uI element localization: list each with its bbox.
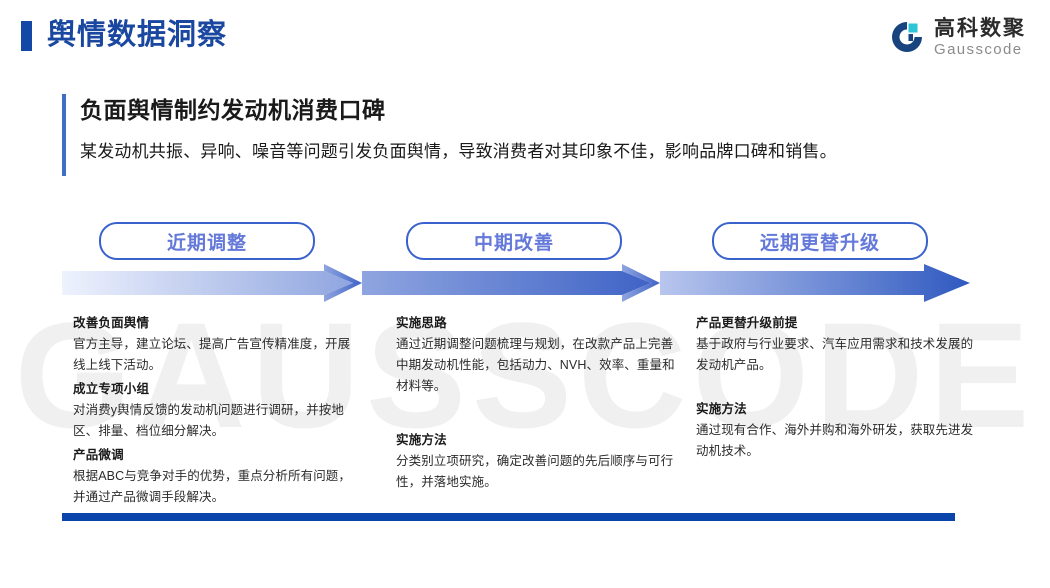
detail-block: 实施思路 通过近期调整问题梳理与规划，在改款产品上完善中期发动机性能，包括动力、… [396, 312, 678, 397]
logo-name-cn: 高科数聚 [934, 18, 1026, 39]
footer-bar [62, 513, 955, 521]
logo-text: 高科数聚 Gausscode [934, 18, 1026, 57]
detail-block-title: 实施方法 [696, 398, 978, 420]
headline-title: 负面舆情制约发动机消费口碑 [80, 92, 962, 128]
detail-block-body: 分类别立项研究，确定改善问题的先后顺序与可行性，并落地实施。 [396, 451, 678, 493]
detail-block-body: 通过现有合作、海外并购和海外研发，获取先进发动机技术。 [696, 420, 978, 462]
detail-block: 实施方法 通过现有合作、海外并购和海外研发，获取先进发动机技术。 [696, 398, 978, 462]
detail-block-title: 实施方法 [396, 429, 678, 451]
detail-block-title: 实施思路 [396, 312, 678, 334]
stage-pill-near-term[interactable]: 近期调整 [99, 222, 315, 260]
detail-block-title: 产品微调 [73, 444, 355, 466]
gausscode-logo-icon [889, 19, 925, 55]
detail-block: 产品更替升级前提 基于政府与行业要求、汽车应用需求和技术发展的发动机产品。 [696, 312, 978, 376]
detail-block-body: 通过近期调整问题梳理与规划，在改款产品上完善中期发动机性能，包括动力、NVH、效… [396, 334, 678, 397]
square-bullet-icon [21, 21, 32, 51]
stage-pill-row: 近期调整 中期改善 远期更替升级 [0, 222, 1050, 260]
detail-block: 成立专项小组 对消费y舆情反馈的发动机问题进行调研，并按地区、排量、档位细分解决… [73, 378, 355, 442]
block-spacer [696, 378, 978, 398]
timeline-arrow [62, 264, 970, 302]
detail-block-title: 成立专项小组 [73, 378, 355, 400]
detail-block: 改善负面舆情 官方主导，建立论坛、提高广告宣传精准度，开展线上线下活动。 [73, 312, 355, 376]
stage-pill-long-term[interactable]: 远期更替升级 [712, 222, 928, 260]
stage-column-long-term: 产品更替升级前提 基于政府与行业要求、汽车应用需求和技术发展的发动机产品。 实施… [696, 312, 978, 464]
headline-block: 负面舆情制约发动机消费口碑 某发动机共振、异响、噪音等问题引发负面舆情，导致消费… [62, 92, 962, 166]
logo-name-en: Gausscode [934, 42, 1026, 57]
detail-block: 实施方法 分类别立项研究，确定改善问题的先后顺序与可行性，并落地实施。 [396, 429, 678, 493]
headline-subtitle: 某发动机共振、异响、噪音等问题引发负面舆情，导致消费者对其印象不佳，影响品牌口碑… [80, 138, 962, 166]
stage-pill-mid-term[interactable]: 中期改善 [406, 222, 622, 260]
stage-pill-label: 近期调整 [167, 228, 247, 255]
block-spacer [396, 399, 678, 429]
headline-accent-bar [62, 94, 66, 176]
detail-block-title: 改善负面舆情 [73, 312, 355, 334]
detail-block-body: 对消费y舆情反馈的发动机问题进行调研，并按地区、排量、档位细分解决。 [73, 400, 355, 442]
detail-block-body: 基于政府与行业要求、汽车应用需求和技术发展的发动机产品。 [696, 334, 978, 376]
brand-logo: 高科数聚 Gausscode [889, 14, 1026, 60]
slide-canvas: GAUSSCODE 舆情数据洞察 高科数聚 Gausscode 负面舆情制约发动… [0, 0, 1050, 588]
stage-column-mid-term: 实施思路 通过近期调整问题梳理与规划，在改款产品上完善中期发动机性能，包括动力、… [396, 312, 678, 495]
detail-block-title: 产品更替升级前提 [696, 312, 978, 334]
detail-block: 产品微调 根据ABC与竞争对手的优势，重点分析所有问题，并通过产品微调手段解决。 [73, 444, 355, 508]
page-title: 舆情数据洞察 [47, 14, 227, 56]
stage-column-near-term: 改善负面舆情 官方主导，建立论坛、提高广告宣传精准度，开展线上线下活动。 成立专… [73, 312, 355, 510]
detail-block-body: 根据ABC与竞争对手的优势，重点分析所有问题，并通过产品微调手段解决。 [73, 466, 355, 508]
stage-pill-label: 远期更替升级 [760, 228, 880, 255]
detail-block-body: 官方主导，建立论坛、提高广告宣传精准度，开展线上线下活动。 [73, 334, 355, 376]
stage-pill-label: 中期改善 [474, 228, 554, 255]
